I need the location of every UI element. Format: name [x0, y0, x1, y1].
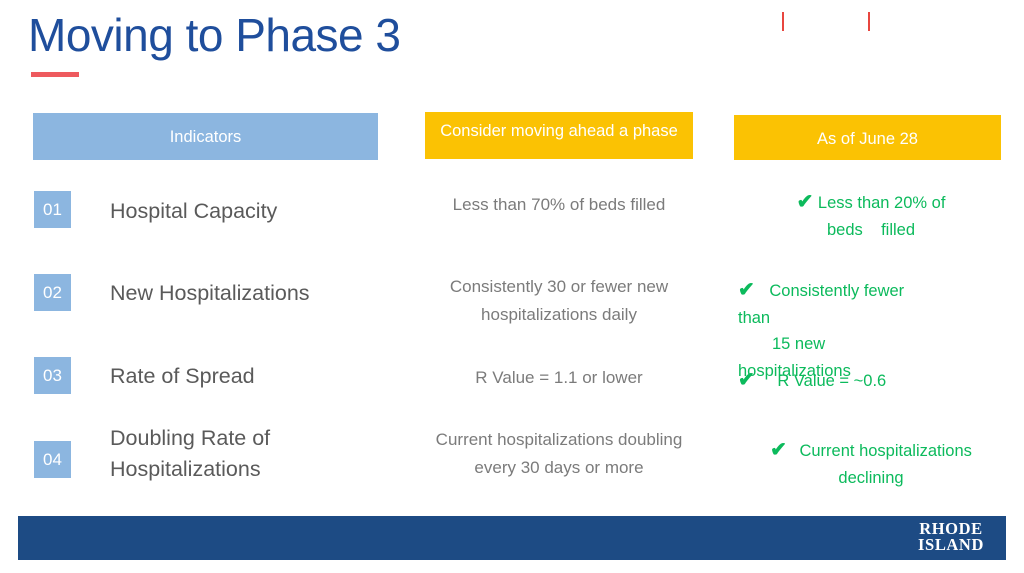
status-text-04-line2: declining	[838, 469, 903, 487]
status-text-01-line2: beds filled	[827, 221, 915, 239]
indicator-label-01: Hospital Capacity	[110, 196, 390, 227]
status-block-04: ✔ Current hospitalizations declining	[740, 438, 1002, 491]
column-header-consider-label: Consider moving ahead a phase	[440, 122, 678, 140]
rhode-island-logo: RHODE ISLAND	[911, 521, 991, 553]
indicator-badge-04: 04	[34, 441, 71, 478]
indicator-badge-01: 01	[34, 191, 71, 228]
column-header-indicators-label: Indicators	[170, 128, 242, 146]
indicator-badge-02: 02	[34, 274, 71, 311]
status-text-02-line2: than	[738, 309, 770, 327]
footer-separator-right	[868, 12, 870, 31]
slide-canvas: Moving to Phase 3 Indicators Consider mo…	[0, 0, 1024, 573]
check-icon: ✔	[770, 439, 787, 461]
title-underline-rule	[31, 72, 79, 77]
indicator-badge-02-number: 02	[43, 283, 62, 302]
status-text-01-line1: Less than 20% of	[818, 194, 946, 212]
check-icon: ✔	[738, 369, 755, 391]
column-header-indicators: Indicators	[33, 113, 378, 160]
logo-line-island: ISLAND	[911, 537, 991, 553]
column-header-consider-moving: Consider moving ahead a phase	[425, 112, 693, 159]
indicator-label-02: New Hospitalizations	[110, 278, 390, 309]
status-text-02-line3: 15 new	[772, 335, 825, 353]
indicator-badge-03-number: 03	[43, 366, 62, 385]
page-title: Moving to Phase 3	[28, 9, 401, 62]
indicator-badge-04-number: 04	[43, 450, 62, 469]
status-text-03-line1: R Value = ~0.6	[777, 372, 886, 390]
page-number: 4	[810, 13, 848, 31]
footer-bar	[18, 516, 1006, 560]
status-text-04-line1: Current hospitalizations	[799, 442, 971, 460]
column-header-as-of-label: As of June 28	[817, 130, 918, 148]
status-block-01: ✔ Less than 20% of beds filled	[740, 190, 1002, 243]
threshold-text-02: Consistently 30 or fewer new hospitaliza…	[425, 273, 693, 328]
threshold-text-03: R Value = 1.1 or lower	[425, 364, 693, 392]
threshold-text-01: Less than 70% of beds filled	[425, 191, 693, 219]
footer-separator-left	[782, 12, 784, 31]
check-icon: ✔	[797, 191, 814, 213]
indicator-label-03: Rate of Spread	[110, 361, 390, 392]
indicator-badge-03: 03	[34, 357, 71, 394]
status-text-02-line1: Consistently fewer	[769, 282, 904, 300]
threshold-text-04: Current hospitalizations doubling every …	[425, 426, 693, 481]
column-header-as-of-date: As of June 28	[734, 115, 1001, 160]
status-block-03: ✔ R Value = ~0.6	[738, 368, 1000, 395]
indicator-label-04: Doubling Rate of Hospitalizations	[110, 423, 390, 486]
indicator-badge-01-number: 01	[43, 200, 62, 219]
check-icon: ✔	[738, 279, 755, 301]
